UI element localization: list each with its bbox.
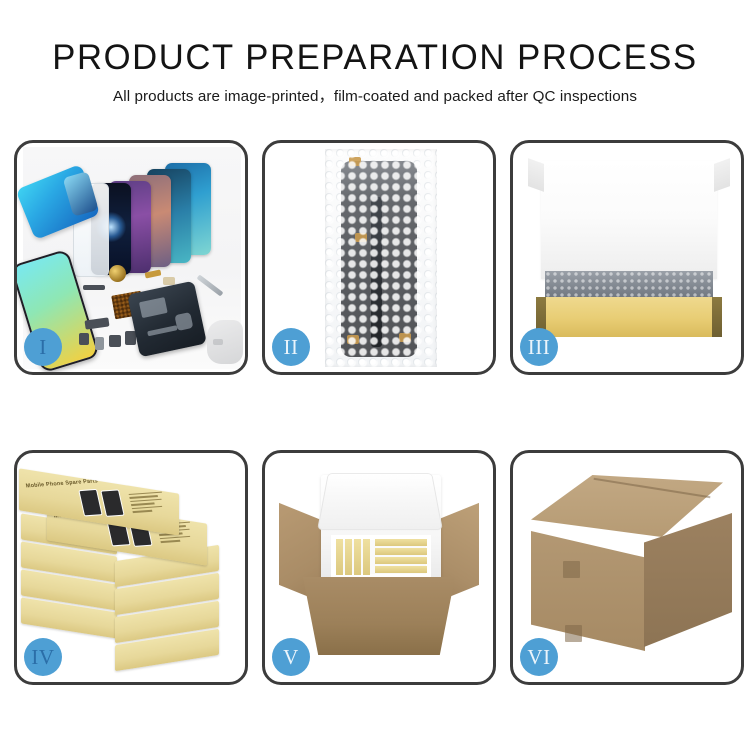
step-badge-3: III [520, 328, 558, 366]
process-step-2: II [262, 140, 496, 375]
inner-yellow-box-1 [336, 539, 343, 575]
step-badge-2: II [272, 328, 310, 366]
label-phone-graphic-2 [100, 489, 124, 517]
process-step-5: V [262, 450, 496, 685]
tape-piece-4 [399, 333, 411, 342]
step-6-image: VI [513, 453, 741, 682]
step-badge-6: VI [520, 638, 558, 676]
box-label-text-1: Mobile Phone Spare Parts [25, 478, 98, 489]
gray-foam-padding [545, 271, 713, 299]
step-badge-5: V [272, 638, 310, 676]
step-badge-4: IV [24, 638, 62, 676]
step-4-image: Mobile Phone Spare Parts [17, 453, 245, 682]
hand-holding-tool [207, 320, 243, 364]
inner-yellow-box-2 [345, 539, 352, 575]
page-subtitle: All products are image-printed，film-coat… [0, 87, 750, 107]
label-phone-graphic-1 [78, 489, 102, 517]
process-step-3: III [510, 140, 744, 375]
kraft-box-base [537, 297, 721, 337]
small-part-2 [95, 337, 104, 350]
foam-cavity [331, 535, 431, 579]
tape-piece-1 [349, 157, 361, 166]
process-step-1: I [14, 140, 248, 375]
step-5-image: V [265, 453, 493, 682]
inner-yellow-box-4 [363, 539, 370, 575]
small-part-1 [79, 333, 89, 345]
inner-yellow-box-8 [375, 566, 427, 573]
header: PRODUCT PREPARATION PROCESS All products… [0, 36, 750, 107]
inner-yellow-box-5 [375, 539, 427, 546]
small-part-3 [109, 335, 121, 347]
carton-body [303, 577, 455, 655]
white-foam-lid [541, 161, 717, 279]
process-step-6: VI [510, 450, 744, 685]
inner-yellow-box-6 [375, 548, 427, 555]
page-title: PRODUCT PREPARATION PROCESS [4, 36, 747, 80]
step-badge-1: I [24, 328, 62, 366]
carton-tab-lower [565, 625, 582, 642]
step-1-image: I [17, 143, 245, 372]
tape-piece-2 [355, 233, 367, 242]
carton-tab-upper [563, 561, 580, 578]
camera-lens-part [109, 265, 126, 282]
step-3-image: III [513, 143, 741, 372]
label-spec-lines-1 [129, 492, 167, 516]
process-step-grid: I II [14, 140, 744, 685]
product-preparation-infographic: PRODUCT PREPARATION PROCESS All products… [0, 0, 750, 750]
process-step-4: Mobile Phone Spare Parts [14, 450, 248, 685]
carton-front-face [531, 531, 645, 651]
connector-part-1 [83, 285, 105, 290]
bubble-wrap-sleeve [325, 149, 437, 367]
screen-flex-cable [371, 197, 382, 347]
step-2-image: II [265, 143, 493, 372]
tape-piece-3 [347, 335, 359, 344]
foam-cooler-lid [317, 473, 443, 530]
inner-yellow-box-3 [354, 539, 361, 575]
inner-yellow-box-7 [375, 557, 427, 564]
